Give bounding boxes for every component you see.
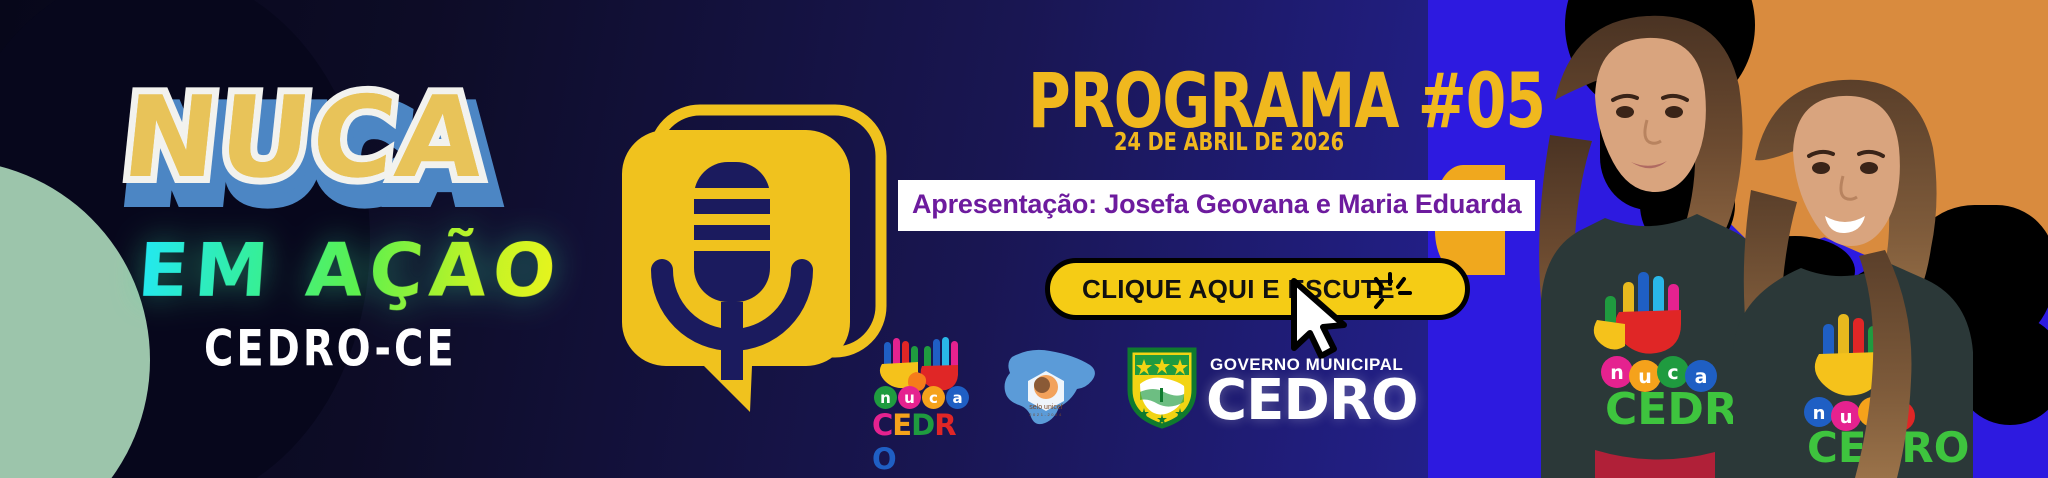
svg-text:n: n: [1813, 403, 1826, 424]
nuca-cedro-letter: O: [872, 442, 896, 476]
svg-text:c: c: [1667, 362, 1678, 384]
nuca-bubble: u: [898, 386, 921, 409]
nuca-bubbles: n u c a: [874, 386, 969, 409]
nuca-location: CEDRO-CE: [204, 320, 457, 378]
nuca-tagline: EM AÇÃO: [135, 228, 565, 314]
presenters-label: Apresentação: Josefa Geovana e Maria Edu…: [912, 189, 1521, 219]
ceara-coat-of-arms-icon: [1124, 344, 1200, 435]
governo-main-label: CEDRO: [1206, 375, 1418, 427]
nuca-cedro-letter: C: [872, 408, 892, 442]
nuca-cedro-letter: D: [911, 408, 934, 442]
partner-logos: n u c a CEDRO selo unicef 2021-2024: [876, 334, 1418, 444]
microphone-podcast-icon: [620, 92, 890, 412]
promo-banner: NUCA NUCA NUCA EM AÇÃO CEDRO-CE PROGRAMA…: [0, 0, 2048, 478]
presenters-illustration: n u c a CEDRO: [1455, 0, 2048, 478]
nuca-cedro-logo: n u c a CEDRO: [876, 336, 968, 442]
governo-municipal-logo: GOVERNO MUNICIPAL CEDRO: [1124, 343, 1418, 435]
svg-text:n: n: [1610, 362, 1624, 384]
listen-cta-button[interactable]: CLIQUE AQUI E ESCUTE: [1045, 258, 1470, 320]
nuca-bubble: n: [874, 386, 897, 409]
svg-text:2021-2024: 2021-2024: [1029, 412, 1063, 417]
svg-text:selo unicef: selo unicef: [1029, 404, 1063, 411]
presenters-photo: n u c a CEDRO: [1455, 0, 2048, 478]
nuca-bubble: c: [922, 386, 945, 409]
nuca-logo: NUCA NUCA NUCA EM AÇÃO CEDRO-CE: [118, 78, 588, 378]
nuca-wordmark-fill: NUCA: [118, 82, 491, 194]
nuca-bubble: a: [946, 386, 969, 409]
nuca-cedro-letter: R: [934, 408, 955, 442]
governo-text: GOVERNO MUNICIPAL CEDRO: [1206, 351, 1418, 427]
selo-unicef-logo: selo unicef 2021-2024: [994, 343, 1098, 435]
broadcast-date: 24 DE ABRIL DE 2026: [1114, 127, 1344, 156]
presenters-bar: Apresentação: Josefa Geovana e Maria Edu…: [898, 180, 1535, 231]
nuca-cedro-word: CEDRO: [872, 408, 968, 476]
nuca-cedro-letter: E: [892, 408, 911, 442]
click-burst-icon: [1367, 270, 1413, 316]
